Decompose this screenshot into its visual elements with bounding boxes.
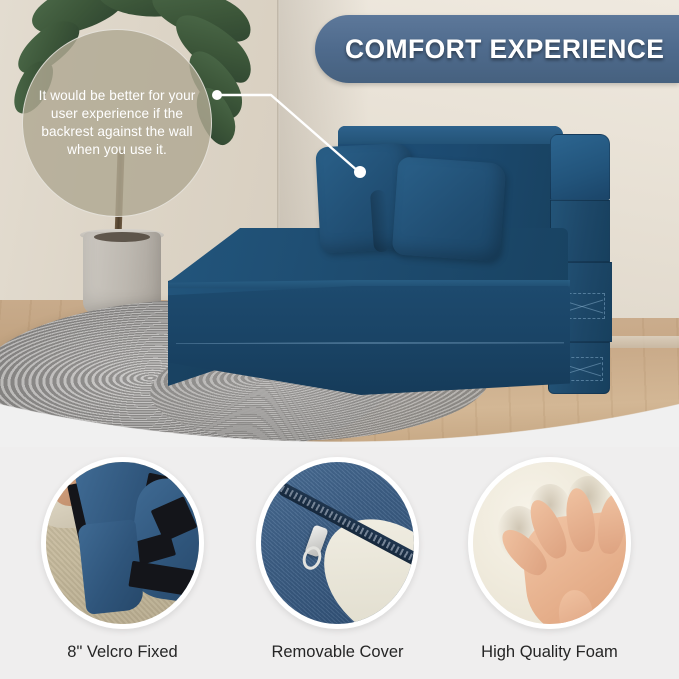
- comfort-experience-banner: COMFORT EXPERIENCE: [315, 15, 679, 83]
- zipper-photo-content: [261, 462, 414, 624]
- throw-pillow-right: [392, 156, 507, 261]
- product-marketing-image: It would be better for your user experie…: [0, 0, 679, 679]
- feature-item-foam: High Quality Foam: [452, 457, 647, 679]
- callout-leader-line: [205, 82, 380, 187]
- callout-text: It would be better for your user experie…: [23, 87, 211, 160]
- feature-item-velcro: 8" Velcro Fixed: [25, 457, 220, 679]
- feature-label-velcro: 8" Velcro Fixed: [25, 643, 220, 662]
- plant-pot-soil: [94, 232, 150, 242]
- hero-product-photo: It would be better for your user experie…: [0, 0, 679, 447]
- velcro-strap-photo: [41, 457, 204, 629]
- velcro-photo-content: [46, 462, 199, 624]
- feature-item-cover: Removable Cover: [240, 457, 435, 679]
- banner-title: COMFORT EXPERIENCE: [345, 34, 664, 65]
- foam-photo-content: [473, 462, 626, 624]
- feature-label-cover: Removable Cover: [240, 643, 435, 662]
- feature-strip: 8" Velcro Fixed Removable Cover: [0, 447, 679, 679]
- feature-label-foam: High Quality Foam: [452, 643, 647, 662]
- zipper-cover-photo: [256, 457, 419, 629]
- foam-block-top: [550, 134, 610, 200]
- callout-bubble: It would be better for your user experie…: [22, 29, 212, 217]
- hand-pressing-foam-photo: [468, 457, 631, 629]
